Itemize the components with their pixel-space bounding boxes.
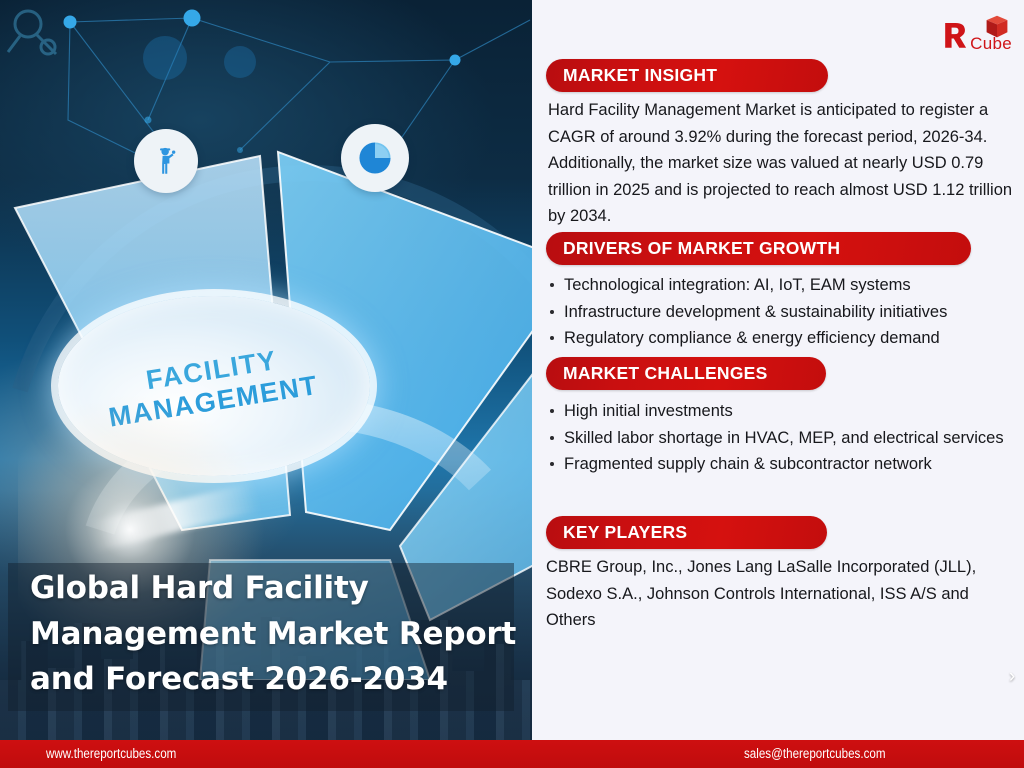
section-heading-market-insight: MARKET INSIGHT xyxy=(546,59,828,92)
challenges-heading-text: MARKET CHALLENGES xyxy=(546,363,768,384)
key-players-body: CBRE Group, Inc., Jones Lang LaSalle Inc… xyxy=(546,554,1020,634)
logo-reversed-r: Я xyxy=(942,20,968,54)
section-heading-challenges: MARKET CHALLENGES xyxy=(546,357,826,390)
worker-figure-icon xyxy=(134,129,198,193)
page-title: Global Hard Facility Management Market R… xyxy=(30,566,520,703)
challenges-list: High initial investments Skilled labor s… xyxy=(546,398,1012,478)
tools-icon xyxy=(0,0,70,70)
footer-bar: www.thereportcubes.com sales@thereportcu… xyxy=(0,740,1024,768)
list-item: Regulatory compliance & energy efficienc… xyxy=(546,325,1012,351)
next-arrow-icon[interactable]: › xyxy=(1002,664,1022,688)
footer-email[interactable]: sales@thereportcubes.com xyxy=(744,746,885,761)
list-item: Infrastructure development & sustainabil… xyxy=(546,299,1012,325)
drivers-list: Technological integration: AI, IoT, EAM … xyxy=(546,272,1012,352)
center-hub: FACILITY MANAGEMENT xyxy=(58,296,370,476)
infographic-page: FACILITY MANAGEMENT xyxy=(0,0,1024,768)
market-insight-body: Hard Facility Management Market is antic… xyxy=(548,97,1018,230)
brand-logo[interactable]: Я Cube xyxy=(942,8,1012,54)
section-heading-key-players: KEY PLAYERS xyxy=(546,516,827,549)
list-item: Skilled labor shortage in HVAC, MEP, and… xyxy=(546,425,1012,451)
content-panel: Я Cube MARKET INSIGHT Hard Facility Mana… xyxy=(532,0,1024,740)
section-heading-drivers: DRIVERS OF MARKET GROWTH xyxy=(546,232,971,265)
list-item: High initial investments xyxy=(546,398,1012,424)
cube-3d-icon xyxy=(984,14,1010,40)
market-insight-heading-text: MARKET INSIGHT xyxy=(546,65,717,86)
list-item: Technological integration: AI, IoT, EAM … xyxy=(546,272,1012,298)
title-line-2: Management Market Report xyxy=(30,612,520,658)
list-item: Fragmented supply chain & subcontractor … xyxy=(546,451,1012,477)
drivers-heading-text: DRIVERS OF MARKET GROWTH xyxy=(546,238,840,259)
pie-chart-icon xyxy=(341,124,409,192)
title-line-1: Global Hard Facility xyxy=(30,566,520,612)
key-players-heading-text: KEY PLAYERS xyxy=(546,522,687,543)
title-line-3: and Forecast 2026-2034 xyxy=(30,657,520,703)
footer-website[interactable]: www.thereportcubes.com xyxy=(46,746,176,761)
